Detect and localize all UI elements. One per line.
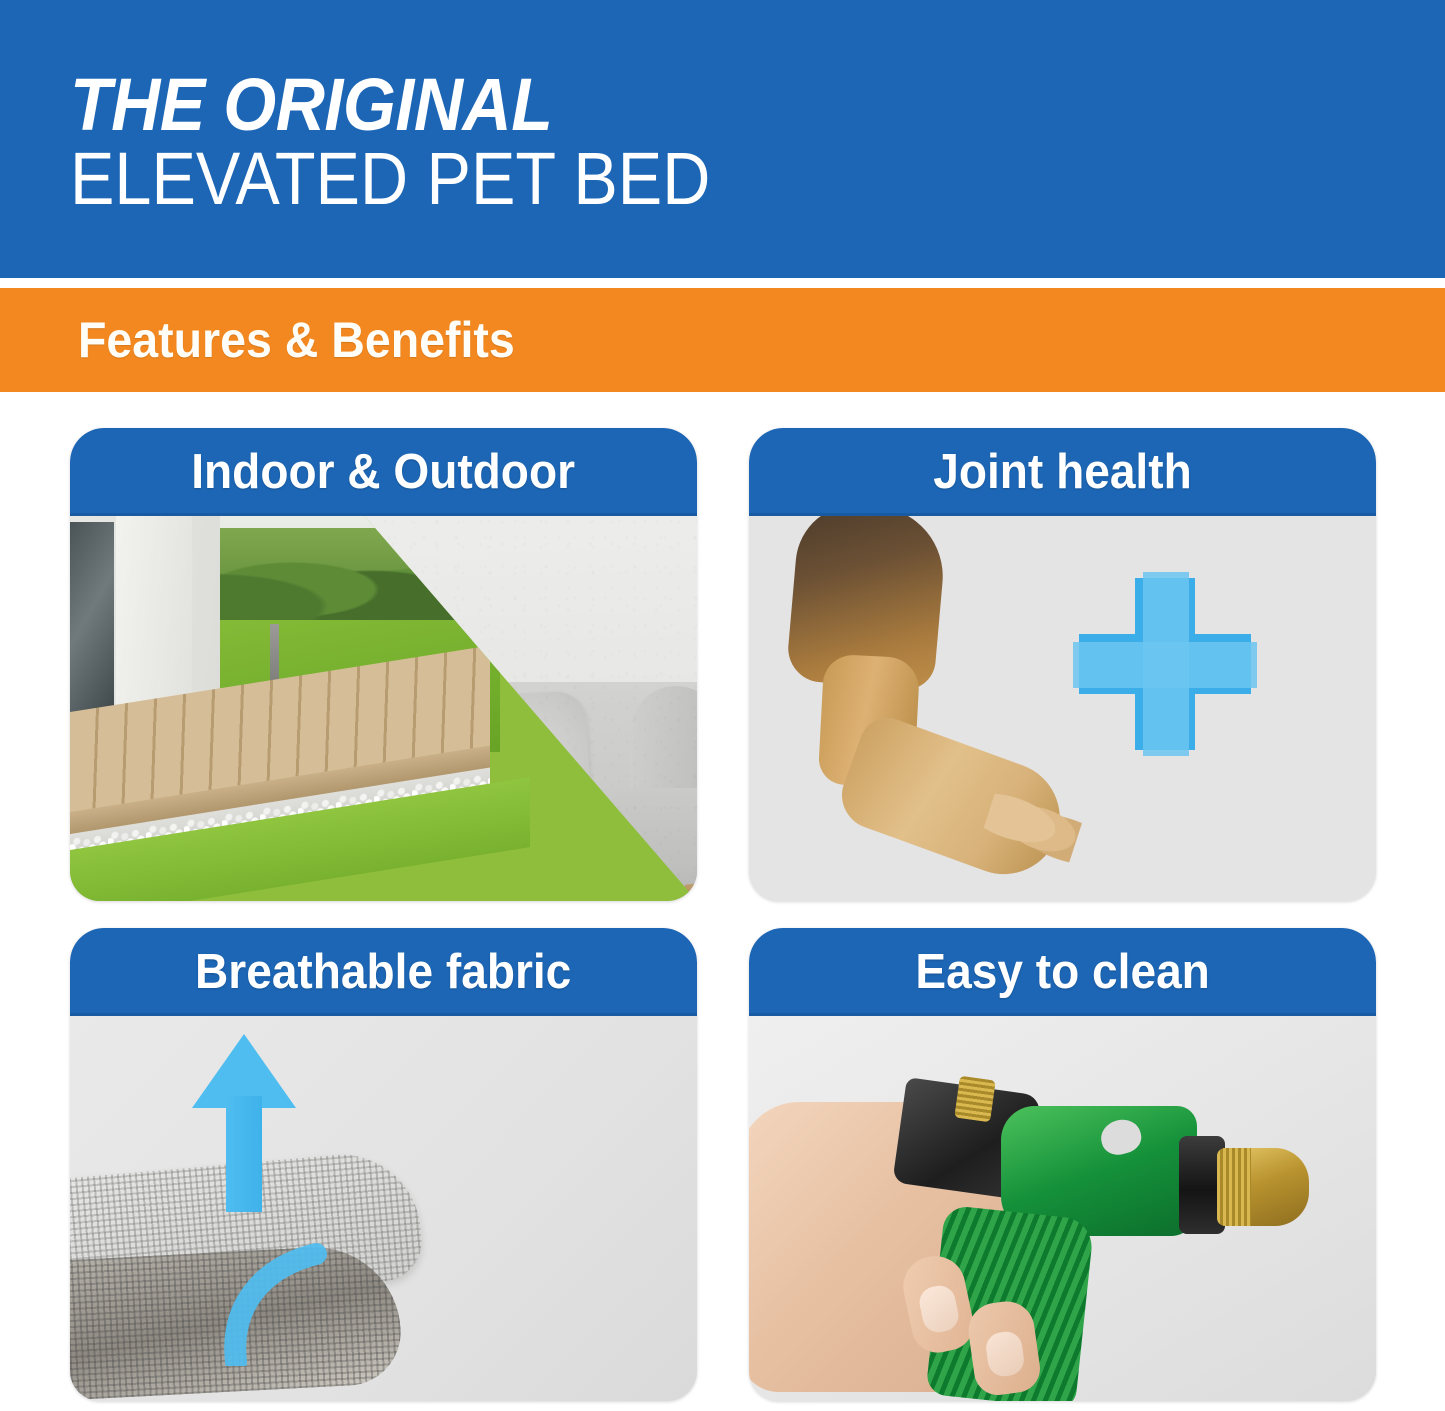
airflow-up-arrow-icon <box>192 1034 296 1208</box>
glass-door <box>70 522 114 722</box>
feature-card-easy-to-clean[interactable]: Easy to clean <box>749 928 1376 1401</box>
feature-card-title: Breathable fabric <box>195 944 571 1000</box>
hero-title-line-2: ELEVATED PET BED <box>70 140 710 218</box>
feature-card-image-indoor-outdoor <box>70 516 697 901</box>
medical-cross-icon <box>1079 578 1251 750</box>
feature-card-image-breathable-fabric <box>70 1016 697 1401</box>
product-infographic: THE ORIGINAL ELEVATED PET BED Features &… <box>0 0 1445 1411</box>
feature-card-joint-health[interactable]: Joint health <box>749 428 1376 901</box>
mesh-fabric-photo <box>70 1016 697 1401</box>
feature-card-header: Easy to clean <box>749 928 1376 1016</box>
feature-card-header: Indoor & Outdoor <box>70 428 697 516</box>
feature-card-header: Joint health <box>749 428 1376 516</box>
features-grid: Indoor & Outdoor <box>70 428 1376 1388</box>
feature-card-title: Easy to clean <box>915 944 1209 1000</box>
features-section-title: Features & Benefits <box>78 311 515 369</box>
feature-card-image-easy-to-clean <box>749 1016 1376 1401</box>
cross-vertical-highlight <box>1143 572 1189 756</box>
indoor-outdoor-split-photo <box>70 516 697 901</box>
arrow-shaft <box>226 1096 262 1212</box>
brass-knurled-ring <box>1217 1148 1251 1226</box>
dog-paw-photo <box>749 516 1376 901</box>
feature-card-title: Joint health <box>933 444 1191 500</box>
feature-card-breathable-fabric[interactable]: Breathable fabric <box>70 928 697 1401</box>
feature-card-title: Indoor & Outdoor <box>192 444 576 500</box>
feature-card-indoor-outdoor[interactable]: Indoor & Outdoor <box>70 428 697 901</box>
features-section-band: Features & Benefits <box>0 288 1445 392</box>
brass-adjustment-screw <box>954 1076 995 1123</box>
feature-card-image-joint-health <box>749 516 1376 901</box>
hose-nozzle-photo <box>749 1016 1376 1401</box>
hero-banner: THE ORIGINAL ELEVATED PET BED <box>0 0 1445 278</box>
hero-title-line-1: THE ORIGINAL <box>70 66 552 144</box>
feature-card-header: Breathable fabric <box>70 928 697 1016</box>
airflow-curved-arrow-icon <box>220 1238 340 1366</box>
